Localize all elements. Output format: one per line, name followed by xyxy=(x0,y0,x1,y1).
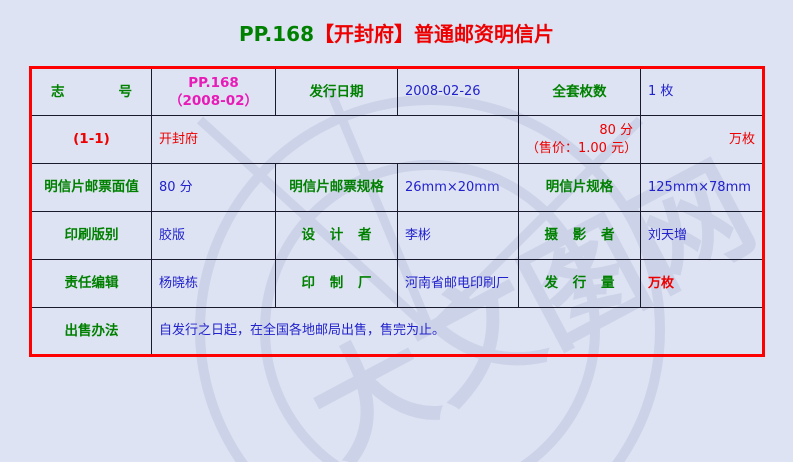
cell-value-stamp-face-value: 80 分 xyxy=(152,164,276,212)
table-row: 出售办法 自发行之日起，在全国各地邮局出售，售完为止。 xyxy=(31,308,764,356)
cell-label-printer: 印 制 厂 xyxy=(276,260,398,308)
cell-label-designer: 设 计 者 xyxy=(276,212,398,260)
table-row: 明信片邮票面值 80 分 明信片邮票规格 26mm×20mm 明信片规格 125… xyxy=(31,164,764,212)
cell-label-sale-method: 出售办法 xyxy=(31,308,152,356)
cell-label-item-index: (1-1) xyxy=(31,116,152,164)
page-root: PP.168【开封府】普通邮资明信片 志 号 PP.168 （2008-02） … xyxy=(0,0,793,462)
cell-value-serial-number: PP.168 （2008-02） xyxy=(152,68,276,116)
face-value: 80 分 xyxy=(526,122,633,140)
cell-label-postcard-size: 明信片规格 xyxy=(519,164,641,212)
cell-label-set-count: 全套枚数 xyxy=(519,68,641,116)
cell-label-stamp-size: 明信片邮票规格 xyxy=(276,164,398,212)
cell-label-stamp-face-value: 明信片邮票面值 xyxy=(31,164,152,212)
cell-label-editor: 责任编辑 xyxy=(31,260,152,308)
cell-value-postcard-size: 125mm×78mm xyxy=(641,164,764,212)
table-row: (1-1) 开封府 80 分 （售价：1.00 元） 万枚 xyxy=(31,116,764,164)
cell-value-printer: 河南省邮电印刷厂 xyxy=(398,260,519,308)
cell-value-issue-date: 2008-02-26 xyxy=(398,68,519,116)
cell-value-editor: 杨晓栋 xyxy=(152,260,276,308)
cell-label-issue-date: 发行日期 xyxy=(276,68,398,116)
table-row: 印刷版别 胶版 设 计 者 李彬 摄 影 者 刘天增 xyxy=(31,212,764,260)
serial-year: （2008-02） xyxy=(159,92,268,110)
cell-value-face-price: 80 分 （售价：1.00 元） xyxy=(519,116,641,164)
cell-label-photographer: 摄 影 者 xyxy=(519,212,641,260)
stamp-info-table: 志 号 PP.168 （2008-02） 发行日期 2008-02-26 全套枚… xyxy=(29,66,765,357)
cell-value-item-name: 开封府 xyxy=(152,116,519,164)
serial-code: PP.168 xyxy=(159,74,268,92)
table-row: 责任编辑 杨晓栋 印 制 厂 河南省邮电印刷厂 发 行 量 万枚 xyxy=(31,260,764,308)
page-title: PP.168【开封府】普通邮资明信片 xyxy=(0,18,793,47)
cell-value-photographer: 刘天增 xyxy=(641,212,764,260)
cell-value-designer: 李彬 xyxy=(398,212,519,260)
cell-label-serial-number: 志 号 xyxy=(31,68,152,116)
cell-value-stamp-size: 26mm×20mm xyxy=(398,164,519,212)
page-title-rest: 【开封府】普通邮资明信片 xyxy=(314,22,554,46)
cell-value-issue-quantity: 万枚 xyxy=(641,260,764,308)
cell-label-printing-type: 印刷版别 xyxy=(31,212,152,260)
cell-label-issue-quantity: 发 行 量 xyxy=(519,260,641,308)
cell-value-set-count: 1 枚 xyxy=(641,68,764,116)
table-row: 志 号 PP.168 （2008-02） 发行日期 2008-02-26 全套枚… xyxy=(31,68,764,116)
cell-value-printing-type: 胶版 xyxy=(152,212,276,260)
cell-value-sale-method: 自发行之日起，在全国各地邮局出售，售完为止。 xyxy=(152,308,764,356)
page-title-code: PP.168 xyxy=(239,22,314,46)
sale-price: （售价：1.00 元） xyxy=(526,140,633,158)
cell-value-print-quantity: 万枚 xyxy=(641,116,764,164)
